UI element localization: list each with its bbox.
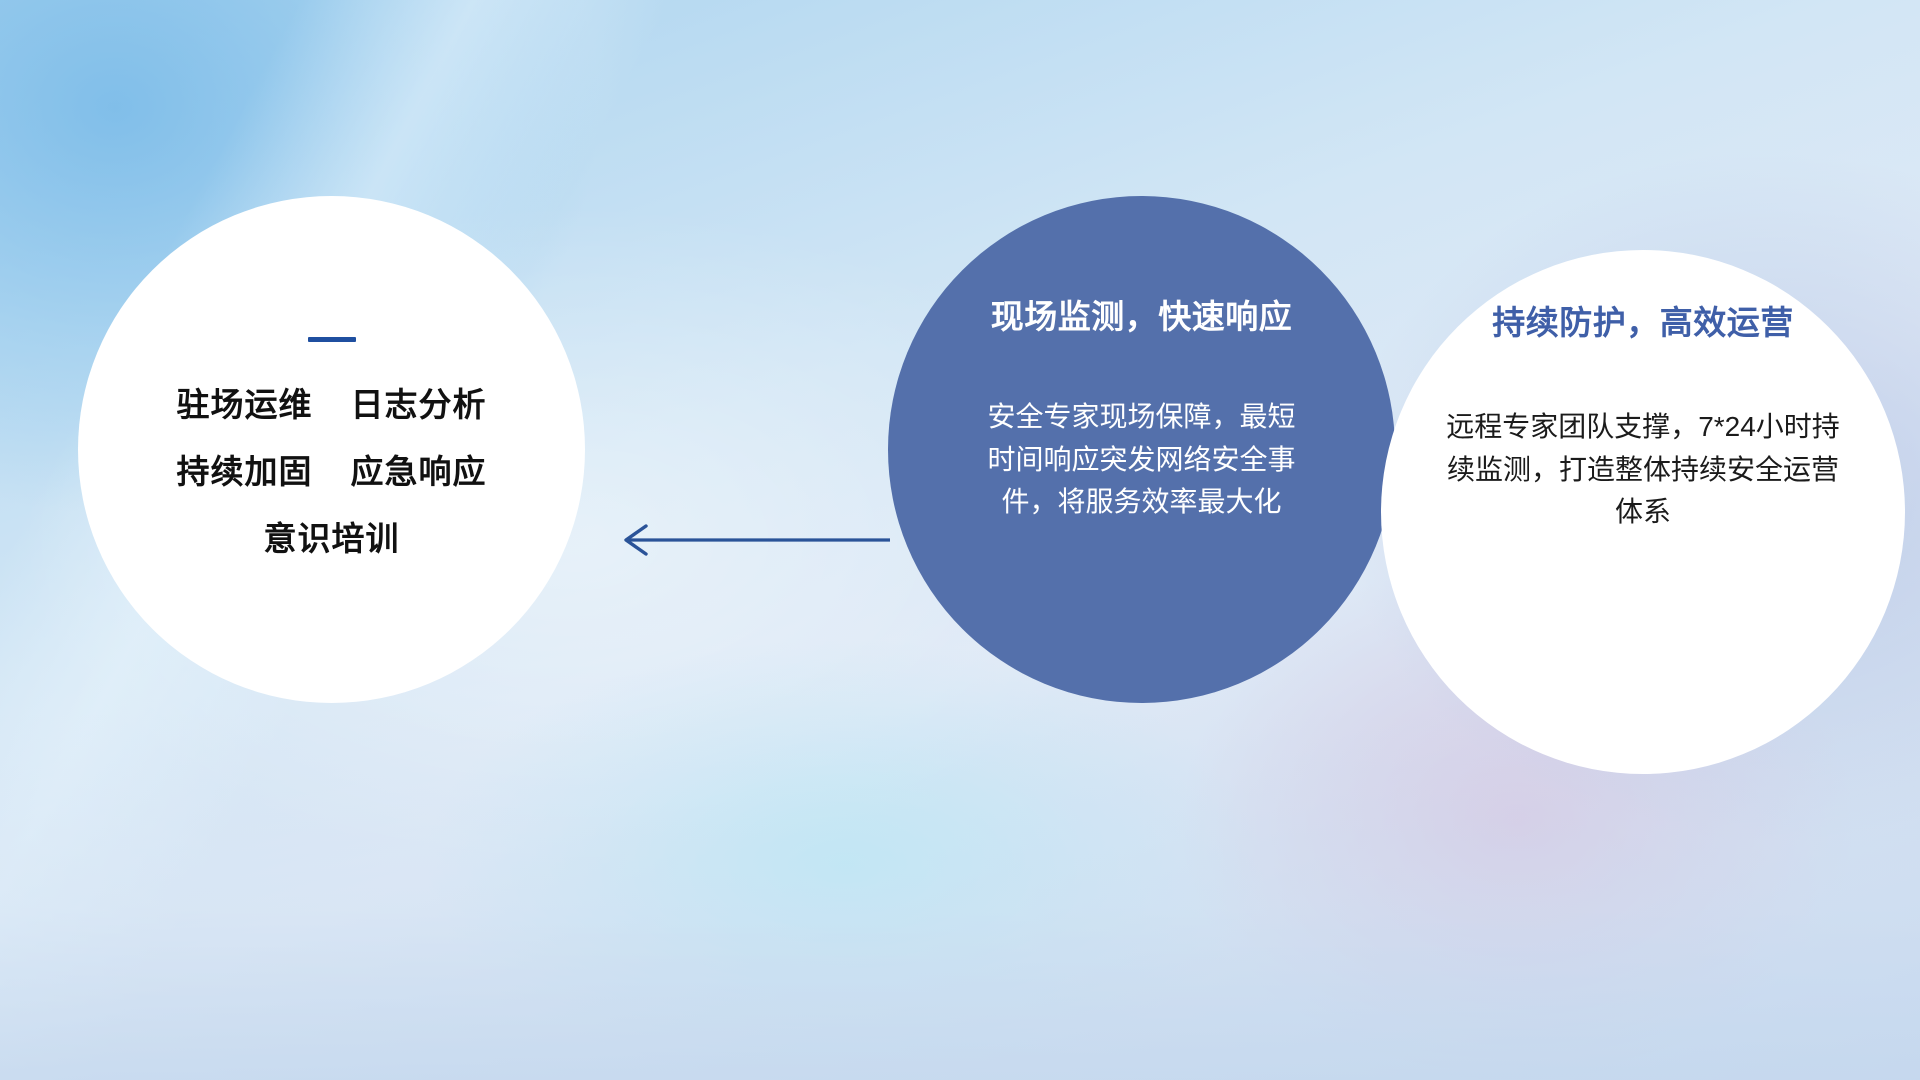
remote-body: 远程专家团队支撑，7*24小时持续监测，打造整体持续安全运营体系 [1443, 406, 1843, 534]
keyword-item[interactable]: 应急响应 [351, 455, 487, 488]
onsite-title: 现场监测，快速响应 [942, 290, 1342, 338]
keyword-row: 意识培训 [117, 522, 547, 555]
onsite-circle[interactable]: 现场监测，快速响应 安全专家现场保障，最短时间响应突发网络安全事件，将服务效率最… [888, 196, 1395, 703]
remote-circle[interactable]: 持续防护，高效运营 远程专家团队支撑，7*24小时持续监测，打造整体持续安全运营… [1381, 250, 1905, 774]
slide-canvas: 驻场运维 日志分析 持续加固 应急响应 意识培训 现场监测，快速响应 安全专家现… [0, 0, 1920, 1080]
keyword-row: 驻场运维 日志分析 [117, 388, 547, 421]
keyword-item[interactable]: 意识培训 [264, 522, 400, 555]
keyword-item[interactable]: 日志分析 [351, 388, 487, 421]
onsite-content: 现场监测，快速响应 安全专家现场保障，最短时间响应突发网络安全事件，将服务效率最… [942, 290, 1342, 524]
capability-content: 驻场运维 日志分析 持续加固 应急响应 意识培训 [117, 337, 547, 555]
accent-bar-icon [308, 337, 356, 342]
onsite-body: 安全专家现场保障，最短时间响应突发网络安全事件，将服务效率最大化 [977, 396, 1307, 524]
remote-title: 持续防护，高效运营 [1423, 296, 1863, 344]
keyword-item[interactable]: 持续加固 [177, 455, 313, 488]
keyword-item[interactable]: 驻场运维 [177, 388, 313, 421]
keyword-row: 持续加固 应急响应 [117, 455, 547, 488]
capability-circle[interactable]: 驻场运维 日志分析 持续加固 应急响应 意识培训 [78, 196, 585, 703]
arrow-left-icon [600, 500, 890, 580]
remote-content: 持续防护，高效运营 远程专家团队支撑，7*24小时持续监测，打造整体持续安全运营… [1423, 296, 1863, 534]
